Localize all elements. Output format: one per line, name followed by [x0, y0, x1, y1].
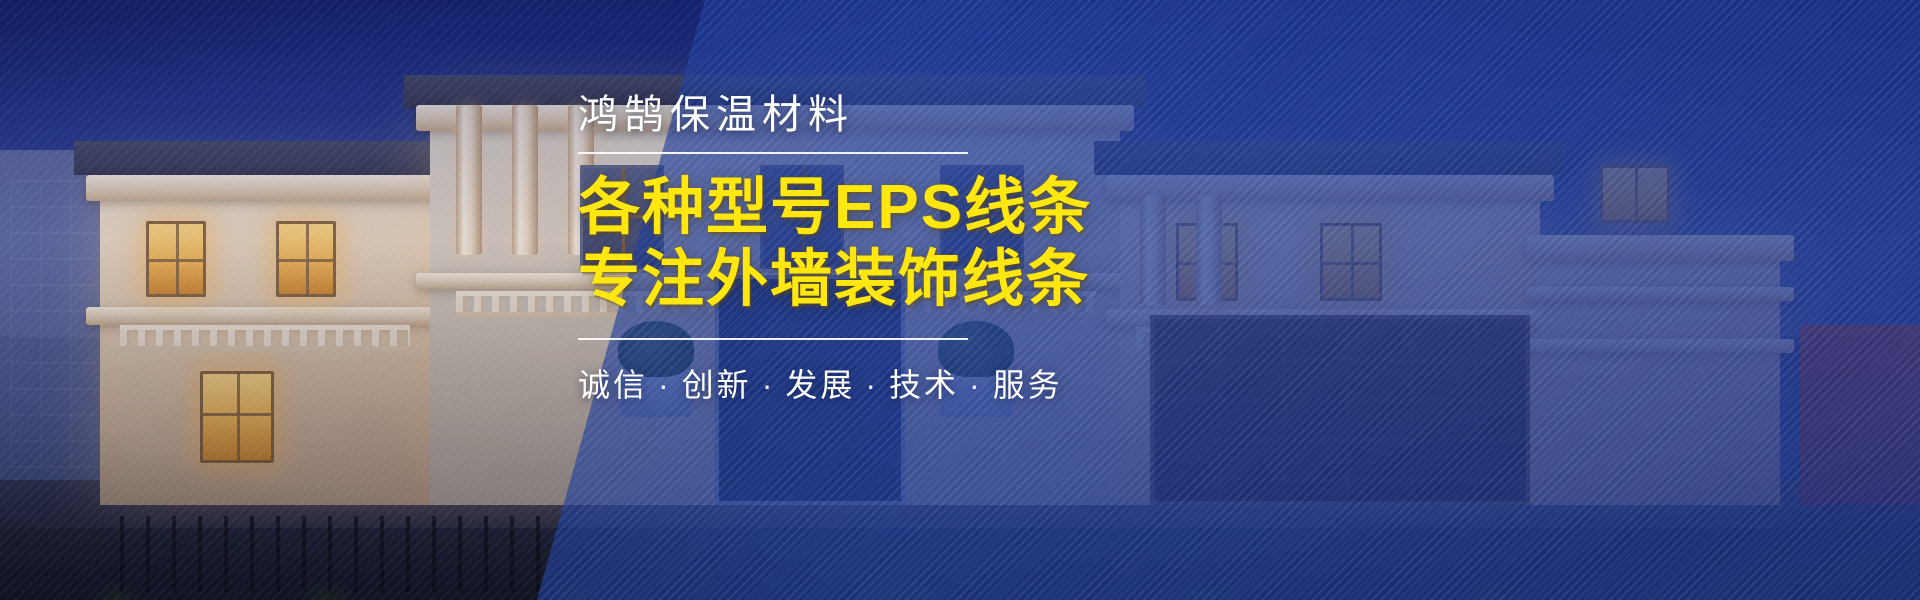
- headline-line-2: 专注外墙装饰线条: [578, 244, 1278, 316]
- brand-name: 鸿鹄保温材料: [578, 92, 1278, 138]
- tagline: 诚信·创新·发展·技术·服务: [578, 360, 1278, 406]
- tagline-separator: ·: [969, 367, 983, 403]
- tagline-separator: ·: [762, 367, 776, 403]
- tagline-item: 创新: [682, 367, 752, 403]
- divider-top: [578, 152, 968, 154]
- promo-banner: 鸿鹄保温材料 各种型号EPS线条 专注外墙装饰线条 诚信·创新·发展·技术·服务: [0, 0, 1920, 600]
- headline-line-1: 各种型号EPS线条: [578, 172, 1278, 244]
- tagline-item: 服务: [993, 367, 1063, 403]
- banner-copy: 鸿鹄保温材料 各种型号EPS线条 专注外墙装饰线条 诚信·创新·发展·技术·服务: [578, 92, 1278, 406]
- tagline-separator: ·: [658, 367, 672, 403]
- tagline-item: 诚信: [578, 367, 648, 403]
- divider-bottom: [578, 338, 968, 340]
- tagline-item: 发展: [785, 367, 855, 403]
- tagline-item: 技术: [889, 367, 959, 403]
- tagline-separator: ·: [865, 367, 879, 403]
